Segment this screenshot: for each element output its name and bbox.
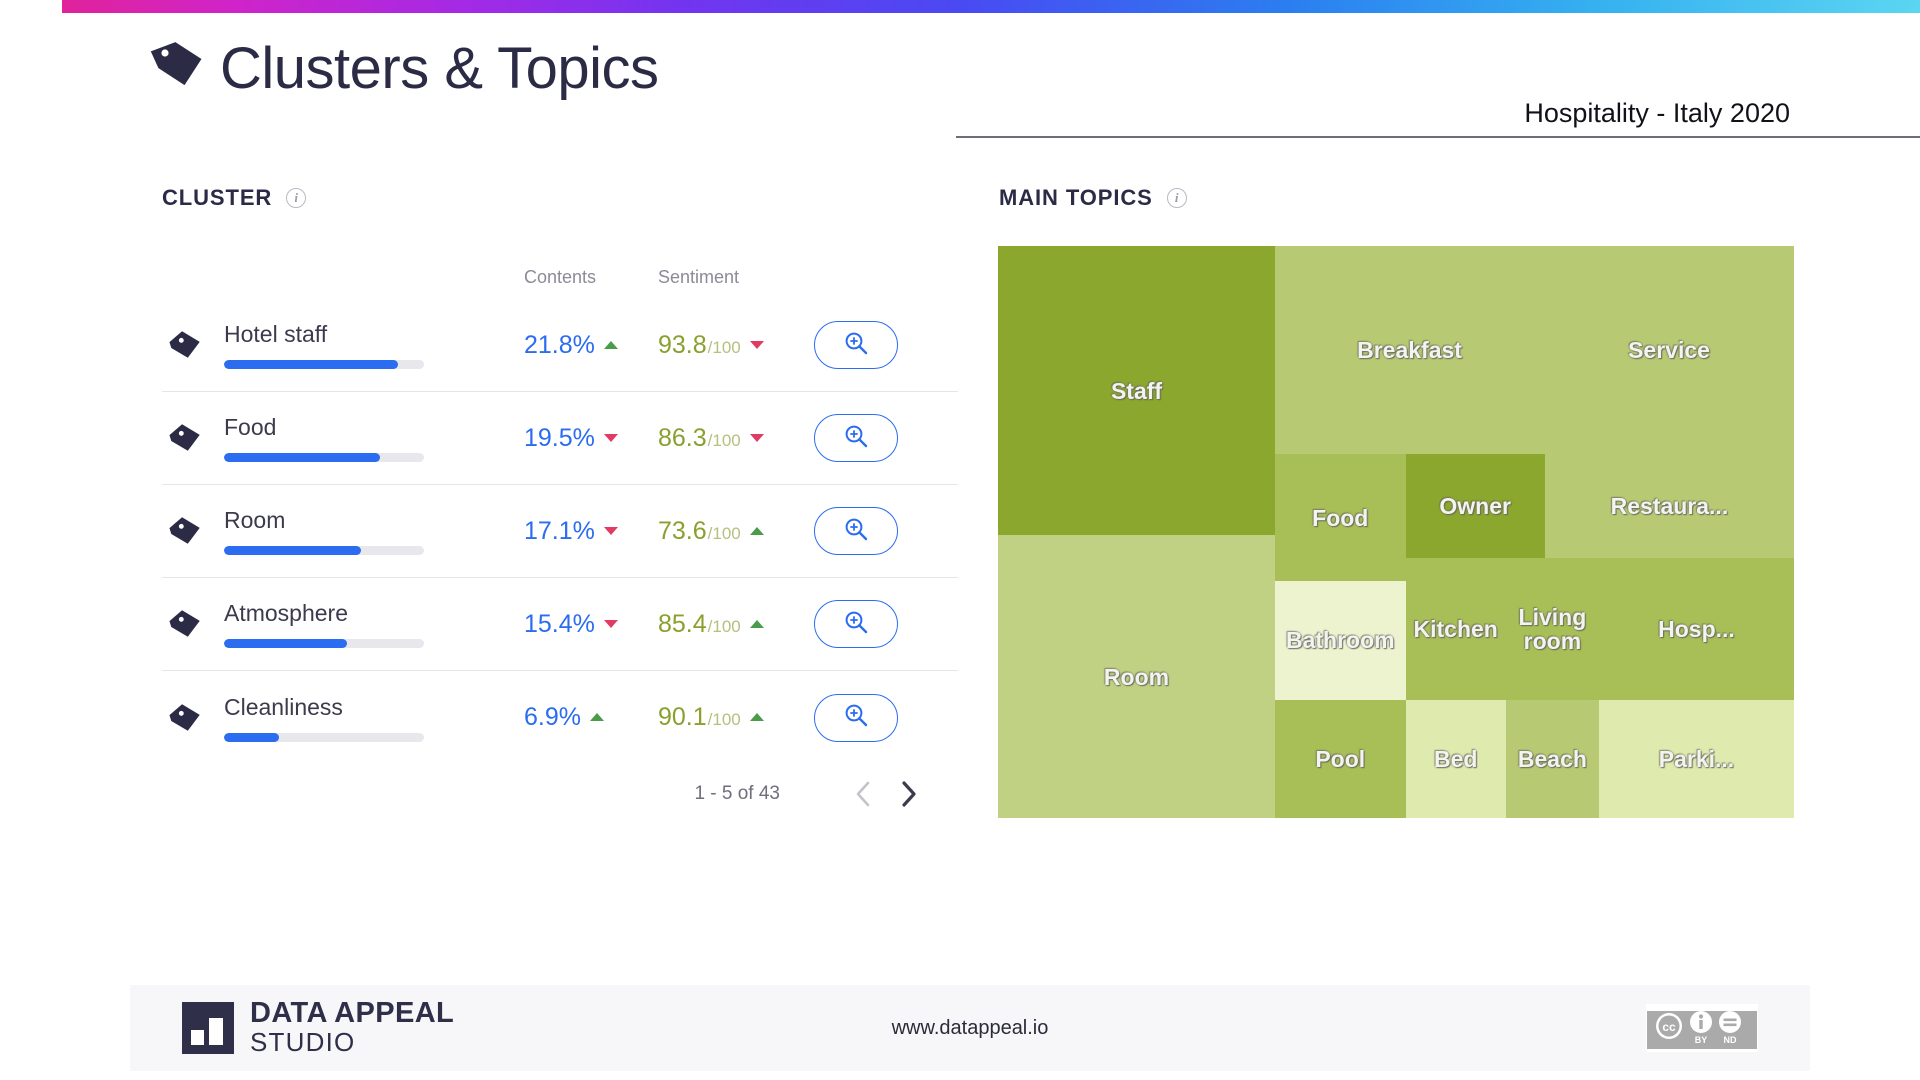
cluster-tag-icon: [162, 328, 224, 362]
page-title: Clusters & Topics: [220, 40, 658, 98]
cluster-name: Food: [224, 414, 524, 441]
cluster-label: CLUSTER: [162, 185, 272, 211]
magnifier-plus-icon: [843, 330, 869, 361]
cluster-info: Hotel staff: [224, 321, 524, 369]
sentiment-metric: 93.8/100: [658, 331, 808, 360]
treemap-tile-label: Owner: [1436, 494, 1514, 518]
header-divider: [956, 136, 1920, 138]
contents-value: 15.4%: [524, 610, 595, 639]
sentiment-metric: 85.4/100: [658, 610, 808, 639]
share-bar-track: [224, 546, 424, 555]
treemap-tile[interactable]: Breakfast: [1275, 246, 1544, 454]
treemap-tile[interactable]: Restaura...: [1545, 454, 1794, 558]
magnifier-plus-icon: [843, 423, 869, 454]
treemap-tile[interactable]: Staff: [998, 246, 1275, 535]
contents-metric: 15.4%: [524, 610, 658, 639]
trend-up-icon: [750, 527, 764, 535]
share-bar-track: [224, 360, 424, 369]
footer-website: www.datappeal.io: [130, 1017, 1810, 1040]
pagination: 1 - 5 of 43: [162, 764, 958, 824]
sentiment-denominator: /100: [708, 524, 741, 544]
topics-section-title: MAIN TOPICS i: [999, 185, 1187, 211]
treemap-tile[interactable]: Kitchen: [1406, 558, 1506, 699]
share-bar-fill: [224, 453, 380, 462]
cluster-info: Cleanliness: [224, 694, 524, 742]
zoom-detail-button[interactable]: [814, 600, 898, 648]
contents-value: 17.1%: [524, 517, 595, 546]
magnifier-plus-icon: [843, 609, 869, 640]
sentiment-metric: 90.1/100: [658, 703, 808, 732]
contents-metric: 21.8%: [524, 331, 658, 360]
sentiment-value: 73.6: [658, 517, 707, 546]
footer: DATA APPEAL STUDIO www.datappeal.io cc B…: [130, 985, 1810, 1071]
trend-down-icon: [604, 434, 618, 442]
treemap-tile-label: Pool: [1312, 747, 1368, 771]
cluster-tag-icon: [162, 607, 224, 641]
table-row: Food19.5%86.3/100: [162, 392, 958, 485]
contents-metric: 6.9%: [524, 703, 658, 732]
contents-metric: 17.1%: [524, 517, 658, 546]
contents-metric: 19.5%: [524, 424, 658, 453]
share-bar-fill: [224, 360, 398, 369]
trend-down-icon: [750, 341, 764, 349]
sentiment-denominator: /100: [708, 710, 741, 730]
chevron-right-icon[interactable]: [886, 771, 932, 817]
svg-text:ND: ND: [1724, 1035, 1737, 1045]
zoom-detail-button[interactable]: [814, 694, 898, 742]
treemap-tile[interactable]: Food: [1275, 454, 1406, 581]
treemap-tile[interactable]: Bathroom: [1275, 581, 1406, 699]
creative-commons-badge: cc BY ND: [1646, 1004, 1758, 1052]
cluster-info: Food: [224, 414, 524, 462]
sentiment-denominator: /100: [708, 617, 741, 637]
treemap-tile-label: Room: [1101, 665, 1172, 689]
sentiment-denominator: /100: [708, 338, 741, 358]
table-row: Room17.1%73.6/100: [162, 485, 958, 578]
info-icon[interactable]: i: [1167, 188, 1187, 208]
share-bar-track: [224, 453, 424, 462]
column-header-sentiment: Sentiment: [658, 267, 808, 288]
svg-text:BY: BY: [1695, 1035, 1708, 1045]
trend-up-icon: [750, 620, 764, 628]
cluster-table-header: Contents Sentiment: [162, 255, 958, 299]
treemap-tile-label: Kitchen: [1411, 617, 1501, 641]
treemap-tile-label: Bed: [1431, 747, 1480, 771]
table-row: Atmosphere15.4%85.4/100: [162, 578, 958, 671]
treemap-tile-label: Food: [1309, 506, 1371, 530]
share-bar-track: [224, 639, 424, 648]
treemap-tile-label: Breakfast: [1354, 338, 1465, 362]
sentiment-metric: 86.3/100: [658, 424, 808, 453]
cluster-table: Contents Sentiment Hotel staff21.8%93.8/…: [162, 255, 958, 824]
pagination-label: 1 - 5 of 43: [694, 783, 780, 805]
treemap-tile[interactable]: Hosp...: [1599, 558, 1794, 699]
chevron-left-icon[interactable]: [840, 771, 886, 817]
treemap-tile-label: Parki...: [1656, 747, 1737, 771]
top-gradient-bar: [62, 0, 1920, 13]
treemap-tile-label: Living room: [1516, 605, 1590, 653]
contents-value: 21.8%: [524, 331, 595, 360]
sentiment-value: 86.3: [658, 424, 707, 453]
treemap-tile-label: Beach: [1515, 747, 1590, 771]
trend-down-icon: [604, 620, 618, 628]
sentiment-value: 90.1: [658, 703, 707, 732]
treemap-tile-label: Restaura...: [1608, 494, 1732, 518]
treemap-tile[interactable]: Service: [1544, 246, 1794, 454]
header-subtitle: Hospitality - Italy 2020: [1524, 98, 1790, 129]
zoom-detail-button[interactable]: [814, 507, 898, 555]
slide-root: Clusters & Topics Hospitality - Italy 20…: [0, 0, 1920, 1080]
cluster-name: Cleanliness: [224, 694, 524, 721]
treemap-tile[interactable]: Pool: [1275, 700, 1406, 818]
share-bar-fill: [224, 639, 347, 648]
svg-text:cc: cc: [1662, 1020, 1676, 1034]
trend-down-icon: [750, 434, 764, 442]
cluster-tag-icon: [162, 514, 224, 548]
tag-icon: [150, 36, 206, 92]
contents-value: 6.9%: [524, 703, 581, 732]
page-header: Clusters & Topics Hospitality - Italy 20…: [150, 36, 1790, 120]
cluster-info: Room: [224, 507, 524, 555]
table-row: Cleanliness6.9%90.1/100: [162, 671, 958, 764]
magnifier-plus-icon: [843, 702, 869, 733]
treemap-tile[interactable]: Bed: [1406, 700, 1506, 818]
trend-down-icon: [604, 527, 618, 535]
contents-value: 19.5%: [524, 424, 595, 453]
treemap-tile-label: Bathroom: [1283, 628, 1398, 652]
sentiment-value: 93.8: [658, 331, 707, 360]
main-topics-treemap: StaffRoomBreakfastServiceFoodOwnerRestau…: [998, 246, 1794, 818]
cluster-name: Atmosphere: [224, 600, 524, 627]
share-bar-fill: [224, 546, 361, 555]
zoom-detail-button[interactable]: [814, 321, 898, 369]
zoom-detail-button[interactable]: [814, 414, 898, 462]
cluster-tag-icon: [162, 701, 224, 735]
treemap-tile[interactable]: Owner: [1406, 454, 1545, 558]
treemap-tile-label: Service: [1625, 338, 1713, 362]
sentiment-metric: 73.6/100: [658, 517, 808, 546]
table-row: Hotel staff21.8%93.8/100: [162, 299, 958, 392]
cluster-name: Room: [224, 507, 524, 534]
sentiment-value: 85.4: [658, 610, 707, 639]
info-icon[interactable]: i: [286, 188, 306, 208]
trend-up-icon: [604, 341, 618, 349]
cluster-section-title: CLUSTER i: [162, 185, 306, 211]
column-header-contents: Contents: [524, 267, 658, 288]
treemap-tile[interactable]: Living room: [1506, 558, 1599, 699]
magnifier-plus-icon: [843, 516, 869, 547]
treemap-tile[interactable]: Beach: [1506, 700, 1599, 818]
cluster-name: Hotel staff: [224, 321, 524, 348]
cluster-info: Atmosphere: [224, 600, 524, 648]
trend-up-icon: [590, 713, 604, 721]
treemap-tile[interactable]: Parki...: [1599, 700, 1794, 818]
share-bar-track: [224, 733, 424, 742]
share-bar-fill: [224, 733, 279, 742]
topics-label: MAIN TOPICS: [999, 185, 1153, 211]
cluster-tag-icon: [162, 421, 224, 455]
trend-up-icon: [750, 713, 764, 721]
treemap-tile-label: Hosp...: [1655, 617, 1738, 641]
treemap-tile[interactable]: Room: [998, 535, 1275, 818]
treemap-tile-label: Staff: [1108, 379, 1165, 403]
sentiment-denominator: /100: [708, 431, 741, 451]
